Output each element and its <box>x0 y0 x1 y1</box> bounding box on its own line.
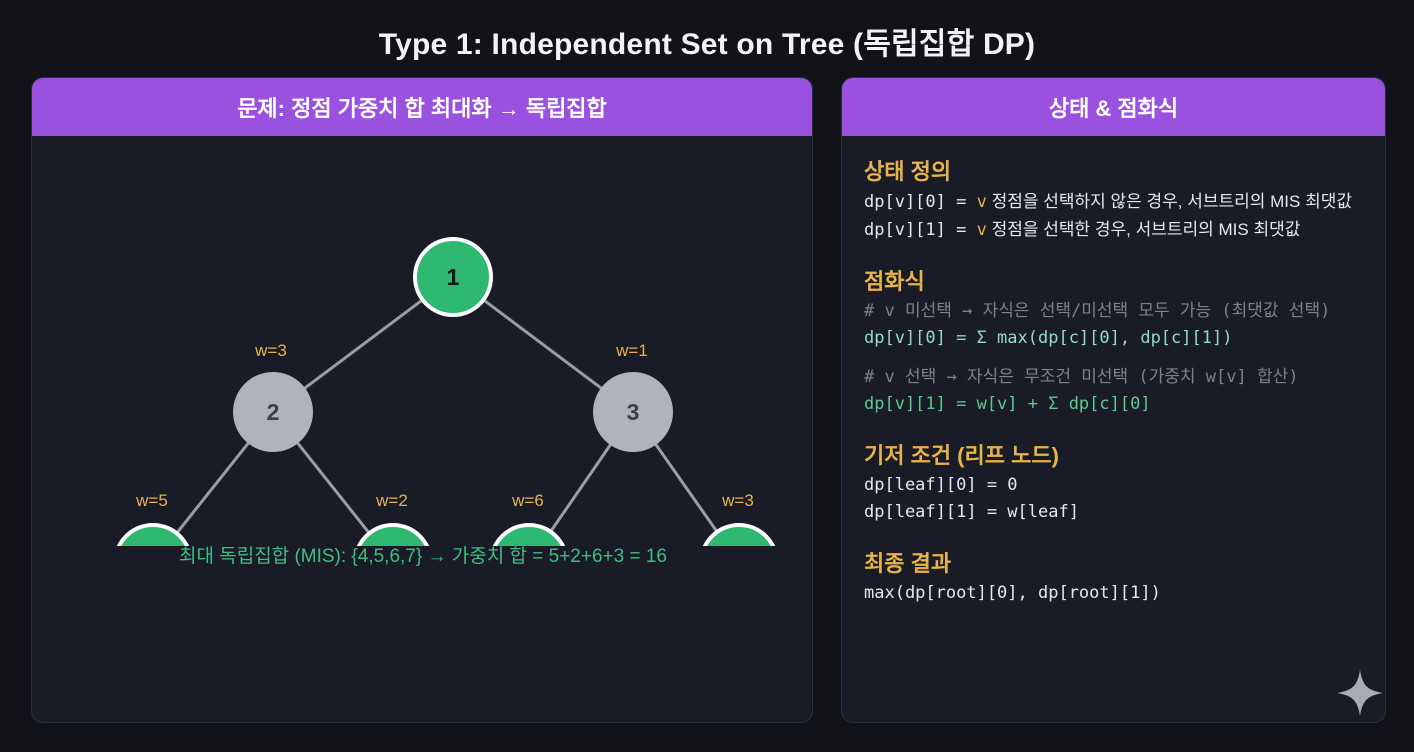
tree-edge <box>176 443 249 535</box>
tree-edge <box>297 443 370 535</box>
tree-node-label-1: 1 <box>447 264 460 290</box>
state-def-line-2-text: 정점을 선택한 경우, 서브트리의 MIS 최댓값 <box>987 220 1301 239</box>
tree-weight-label-4: w=5 <box>135 491 168 510</box>
recurrence-comment-1: # v 미선택 → 자식은 선택/미선택 모두 가능 (최댓값 선택) <box>864 298 1386 325</box>
state-def-line-1-var: v <box>977 192 987 212</box>
tree-weight-label-2: w=3 <box>254 341 287 360</box>
recurrence-formula-1: dp[v][0] = Σ max(dp[c][0], dp[c][1]) <box>864 325 1386 352</box>
recurrence-comment-2: # v 선택 → 자식은 무조건 미선택 (가중치 w[v] 합산) <box>864 364 1386 391</box>
state-def-line-2: dp[v][1] = v 정점을 선택한 경우, 서브트리의 MIS 최댓값 <box>864 216 1386 244</box>
tree-weight-label-7: w=3 <box>721 491 754 510</box>
state-def-line-1: dp[v][0] = v 정점을 선택하지 않은 경우, 서브트리의 MIS 최… <box>864 188 1386 216</box>
tree-weight-label-5: w=2 <box>375 491 408 510</box>
section-heading-state-definition: 상태 정의 <box>864 154 1386 186</box>
state-def-line-2-var: v <box>977 220 987 240</box>
state-def-line-1-text: 정점을 선택하지 않은 경우, 서브트리의 MIS 최댓값 <box>987 192 1352 211</box>
formula-panel: 상태 & 점화식 상태 정의 dp[v][0] = v 정점을 선택하지 않은 … <box>841 77 1386 723</box>
section-heading-final-result: 최종 결과 <box>864 546 1386 578</box>
tree-edge <box>655 444 717 533</box>
formula-panel-body: 상태 정의 dp[v][0] = v 정점을 선택하지 않은 경우, 서브트리의… <box>842 136 1385 722</box>
final-result-line: max(dp[root][0], dp[root][1]) <box>864 580 1386 607</box>
section-heading-recurrence: 점화식 <box>864 264 1386 296</box>
page-title: Type 1: Independent Set on Tree (독립집합 DP… <box>0 19 1414 63</box>
tree-diagram-area: w=3w=1w=5w=2w=6w=3 1234567 최대 독립집합 (MIS)… <box>32 136 812 722</box>
tree-weight-label-3: w=1 <box>615 341 648 360</box>
tree-node-3[interactable]: 3 <box>593 372 673 452</box>
base-case-line-2: dp[leaf][1] = w[leaf] <box>864 499 1386 526</box>
tree-nodes: 1234567 <box>115 239 777 546</box>
formula-panel-header: 상태 & 점화식 <box>842 78 1385 136</box>
tree-edge <box>304 299 423 388</box>
slide-root: Type 1: Independent Set on Tree (독립집합 DP… <box>0 0 1414 752</box>
state-def-line-2-code: dp[v][1] = <box>864 220 977 240</box>
tree-node-label-2: 2 <box>267 399 280 425</box>
section-heading-base-case: 기저 조건 (리프 노드) <box>864 438 1386 470</box>
tree-node-label-3: 3 <box>627 399 640 425</box>
tree-node-2[interactable]: 2 <box>233 372 313 452</box>
base-case-line-1: dp[leaf][0] = 0 <box>864 472 1386 499</box>
state-def-line-1-code: dp[v][0] = <box>864 192 977 212</box>
sparkle-icon <box>1334 667 1386 719</box>
tree-graph: w=3w=1w=5w=2w=6w=3 1234567 <box>32 126 813 546</box>
tree-weight-label-6: w=6 <box>511 491 544 510</box>
tree-node-1[interactable]: 1 <box>415 239 491 315</box>
tree-edge <box>483 299 602 388</box>
problem-panel: 문제: 정점 가중치 합 최대화 → 독립집합 w=3w=1w=5w=2w=6w… <box>31 77 813 723</box>
tree-edge <box>550 444 611 532</box>
recurrence-formula-2: dp[v][1] = w[v] + Σ dp[c][0] <box>864 391 1386 418</box>
mis-result-caption: 최대 독립집합 (MIS): {4,5,6,7} → 가중치 합 = 5+2+6… <box>32 541 813 568</box>
